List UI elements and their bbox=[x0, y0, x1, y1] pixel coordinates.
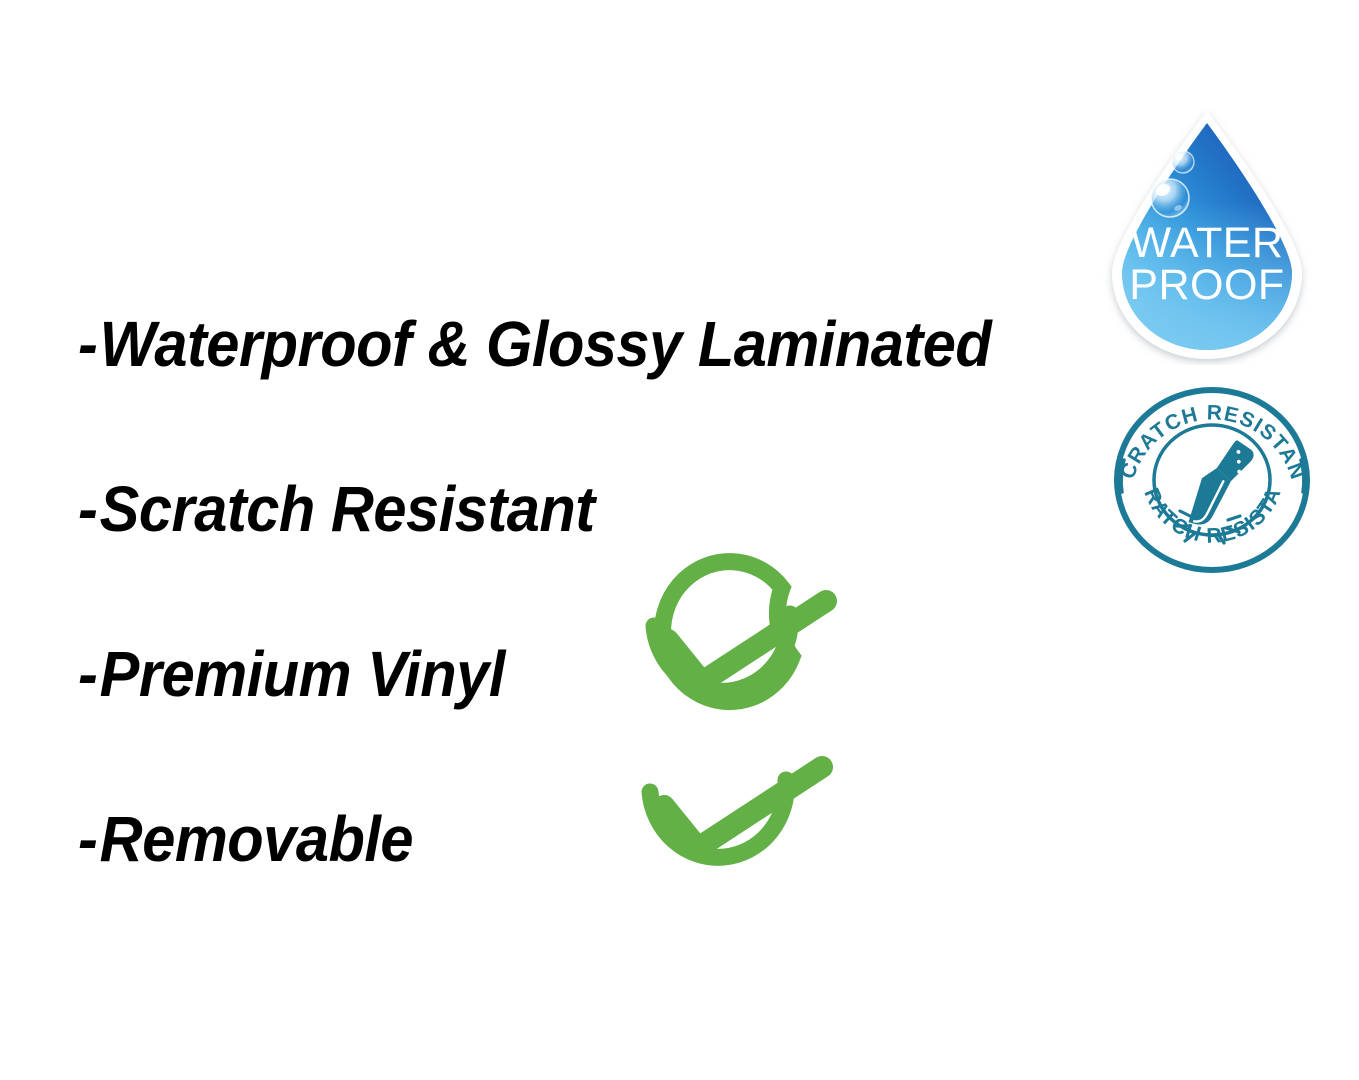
feature-label: Premium Vinyl bbox=[100, 638, 505, 710]
water-bubble-large-icon bbox=[1151, 179, 1189, 217]
water-bubble-small-icon bbox=[1172, 151, 1194, 173]
feature-item-removable: -Removable bbox=[78, 757, 1017, 922]
feature-bullet-dash: - bbox=[78, 803, 100, 875]
feature-bullet-dash: - bbox=[78, 473, 100, 545]
check-removable bbox=[628, 718, 838, 893]
feature-item-waterproof-glossy-laminated: -Waterproof & Glossy Laminated bbox=[78, 262, 1017, 427]
feature-label: Scratch Resistant bbox=[100, 473, 595, 545]
waterproof-line2: PROOF bbox=[1129, 261, 1284, 309]
waterproof-line1: WATER bbox=[1131, 219, 1284, 267]
waterproof-badge: WATER PROOF bbox=[1100, 105, 1315, 365]
feature-label: Removable bbox=[100, 803, 413, 875]
feature-bullet-dash: - bbox=[78, 308, 100, 380]
stamp-text-top: SCRATCH RESISTANT bbox=[1110, 382, 1309, 483]
scratch-resistant-badge: SCRATCH RESISTANT SCRATCH RESISTANT bbox=[1110, 382, 1315, 578]
feature-item-premium-vinyl: -Premium Vinyl bbox=[78, 592, 1017, 757]
check-premium-vinyl bbox=[632, 552, 842, 727]
product-feature-graphic: -Waterproof & Glossy Laminated -Scratch … bbox=[0, 0, 1359, 1080]
feature-list: -Waterproof & Glossy Laminated -Scratch … bbox=[78, 262, 1088, 922]
feature-label: Waterproof & Glossy Laminated bbox=[100, 308, 992, 380]
check-tick bbox=[668, 601, 826, 682]
feature-bullet-dash: - bbox=[78, 638, 100, 710]
check-tick bbox=[664, 767, 822, 848]
feature-item-scratch-resistant: -Scratch Resistant bbox=[78, 427, 1017, 592]
